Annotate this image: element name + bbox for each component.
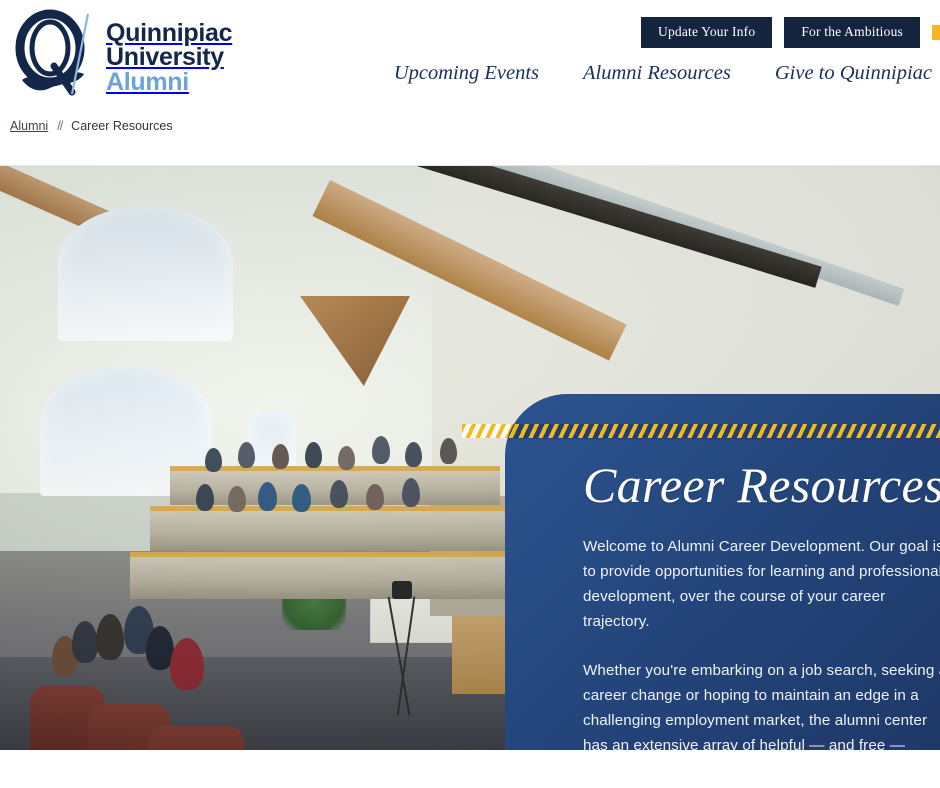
breadcrumb: Alumni // Career Resources: [10, 119, 173, 133]
breadcrumb-current: Career Resources: [71, 119, 172, 133]
site-header: Quinnipiac University Alumni Update Your…: [0, 0, 940, 112]
quinnipiac-q-logo-icon: [10, 8, 102, 100]
utility-button-row: Update Your Info For the Ambitious: [641, 17, 940, 48]
nav-item-alumni-resources[interactable]: Alumni Resources: [583, 62, 731, 85]
hero-description: Welcome to Alumni Career Development. Ou…: [583, 534, 940, 750]
nav-item-upcoming-events[interactable]: Upcoming Events: [394, 62, 539, 85]
hero-paragraph-1: Welcome to Alumni Career Development. Ou…: [583, 534, 940, 634]
update-your-info-button[interactable]: Update Your Info: [641, 17, 772, 48]
page-root: Quinnipiac University Alumni Update Your…: [0, 0, 940, 788]
breadcrumb-separator: //: [57, 119, 62, 133]
site-logo[interactable]: Quinnipiac University Alumni: [10, 8, 232, 100]
for-the-ambitious-button[interactable]: For the Ambitious: [784, 17, 920, 48]
primary-nav: Upcoming Events Alumni Resources Give to…: [394, 62, 932, 85]
hero-paragraph-2: Whether you're embarking on a job search…: [583, 658, 940, 750]
logo-line-3: Alumni: [106, 70, 232, 94]
hero-section: Career Resources Welcome to Alumni Caree…: [0, 166, 940, 750]
hero-content-panel: Career Resources Welcome to Alumni Caree…: [505, 394, 940, 750]
logo-line-2: University: [106, 45, 232, 69]
breadcrumb-link-alumni[interactable]: Alumni: [10, 119, 48, 133]
gold-diagonal-stripe: [505, 424, 940, 438]
nav-item-give-to-quinnipiac[interactable]: Give to Quinnipiac: [775, 62, 932, 85]
gold-utility-button-partial[interactable]: [932, 25, 940, 40]
logo-wordmark: Quinnipiac University Alumni: [106, 8, 232, 94]
page-body-whitespace: [0, 750, 940, 788]
logo-line-1: Quinnipiac: [106, 21, 232, 45]
page-title: Career Resources: [583, 456, 940, 514]
